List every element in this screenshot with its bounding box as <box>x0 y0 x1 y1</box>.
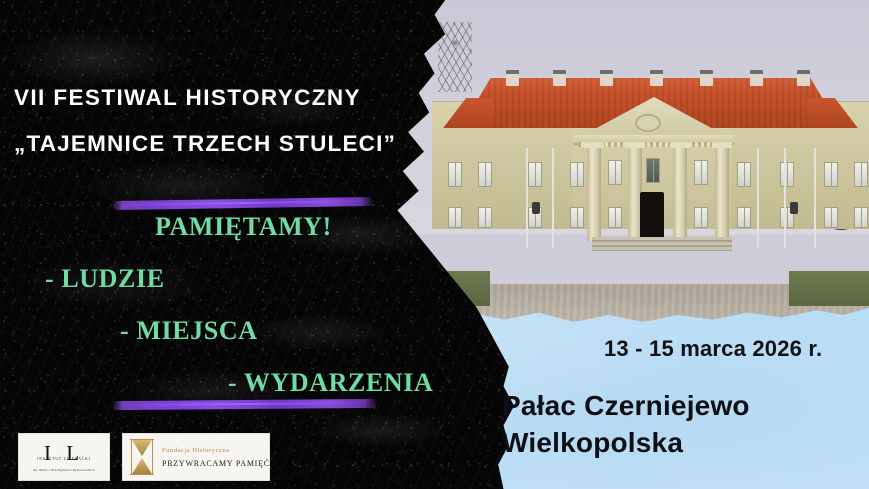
palace-window <box>694 160 708 185</box>
palace-building <box>432 52 869 229</box>
palace-window <box>528 162 542 187</box>
chimney <box>553 70 566 86</box>
palace-window <box>570 207 584 228</box>
chimney <box>650 70 663 86</box>
chimney <box>600 70 613 86</box>
logo-instytut-literacki[interactable]: I L INSTYTUT LITERACKI im. Marii i Przem… <box>18 433 110 481</box>
flagpole <box>757 148 759 248</box>
event-location-line-2: Wielkopolska <box>502 425 750 462</box>
remembrance-slogan-block: PAMIĘTAMY! - LUDZIE - MIEJSCA - WYDARZEN… <box>0 212 470 398</box>
palace-window <box>824 207 838 228</box>
palace-window <box>570 162 584 187</box>
palace-window <box>854 207 868 228</box>
chimney <box>797 70 810 86</box>
palace-main-door <box>640 192 664 240</box>
portico-column <box>587 147 601 241</box>
slogan-item-people: - LUDZIE <box>45 264 470 294</box>
chimney <box>506 70 519 86</box>
pediment-relief <box>635 114 661 132</box>
slogan-item-events: - WYDARZENIA <box>228 368 470 398</box>
institute-subtitle: im. Marii i Przemysława Ryborowskich <box>33 468 95 472</box>
foundation-name: Fundacja Historyczna <box>162 447 270 454</box>
logo-fundacja-historyczna[interactable]: Fundacja Historyczna PRZYWRACAMY PAMIĘĆ <box>122 433 270 481</box>
title-line-2: „TAJEMNICE TRZECH STULECI” <box>14 132 434 156</box>
foundation-text: Fundacja Historyczna PRZYWRACAMY PAMIĘĆ <box>162 447 270 468</box>
hourglass-frame <box>130 439 154 475</box>
title-line-1: VII FESTIWAL HISTORYCZNY <box>14 86 434 110</box>
palace-window <box>737 207 751 228</box>
palace-window <box>780 162 794 187</box>
lawn-right <box>789 271 869 305</box>
palace-window <box>737 162 751 187</box>
event-location: Pałac Czerniejewo Wielkopolska <box>502 388 750 462</box>
flagpole <box>784 148 786 248</box>
event-location-line-1: Pałac Czerniejewo <box>502 388 750 425</box>
foundation-motto: PRZYWRACAMY PAMIĘĆ <box>162 459 270 468</box>
palace-window <box>478 207 492 228</box>
event-date: 13 - 15 marca 2026 r. <box>604 336 822 362</box>
chimney <box>700 70 713 86</box>
wall-lamp <box>532 202 540 214</box>
hourglass-icon <box>130 439 154 475</box>
portico-column <box>715 147 729 241</box>
portico-column <box>673 147 687 241</box>
palace-window <box>608 207 622 228</box>
palace-window <box>608 160 622 185</box>
slogan-headline: PAMIĘTAMY! <box>155 212 470 242</box>
palace-steps <box>592 237 732 251</box>
palace-window <box>824 162 838 187</box>
chimney <box>750 70 763 86</box>
palace-window <box>854 162 868 187</box>
flagpole <box>526 148 528 248</box>
flagpole <box>552 148 554 248</box>
flagpole <box>814 148 816 248</box>
palace-window <box>646 158 660 183</box>
institute-name: INSTYTUT LITERACKI <box>37 457 91 461</box>
wall-lamp <box>790 202 798 214</box>
palace-window <box>448 162 462 187</box>
slogan-item-places: - MIEJSCA <box>120 316 470 346</box>
poster-canvas: VII FESTIWAL HISTORYCZNY „TAJEMNICE TRZE… <box>0 0 869 489</box>
palace-window <box>478 162 492 187</box>
sponsor-logos: I L INSTYTUT LITERACKI im. Marii i Przem… <box>18 433 270 481</box>
festival-title: VII FESTIWAL HISTORYCZNY „TAJEMNICE TRZE… <box>14 86 434 155</box>
palace-window <box>694 207 708 228</box>
